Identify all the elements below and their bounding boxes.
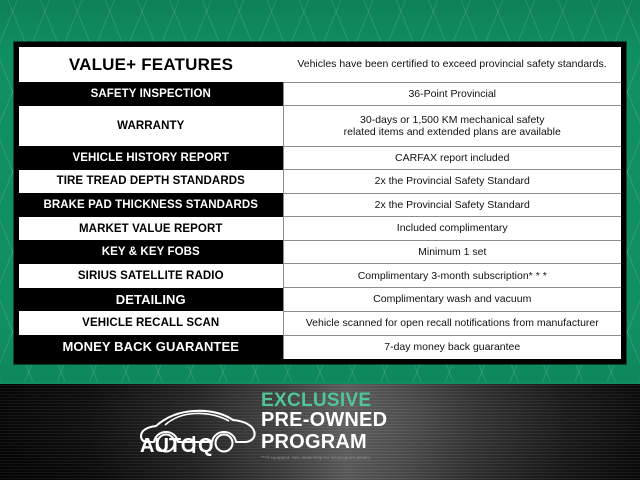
feature-value: CARFAX report included xyxy=(283,146,621,170)
feature-value: Complimentary wash and vacuum xyxy=(283,288,621,312)
table-header-row: VALUE+ FEATURES Vehicles have been certi… xyxy=(19,47,621,82)
program-fineprint: ***If equipped. See dealership for full … xyxy=(261,455,561,460)
promo-graphic: VALUE+ FEATURES Vehicles have been certi… xyxy=(0,0,640,480)
table-body: VALUE+ FEATURES Vehicles have been certi… xyxy=(19,47,621,359)
table-row: SIRIUS SATELLITE RADIO Complimentary 3-m… xyxy=(19,264,621,288)
table-row: BRAKE PAD THICKNESS STANDARDS 2x the Pro… xyxy=(19,193,621,217)
feature-label: VEHICLE RECALL SCAN xyxy=(19,311,283,335)
feature-value-line: 2x the Provincial Safety Standard xyxy=(290,175,616,187)
feature-value: 30-days or 1,500 KM mechanical safety re… xyxy=(283,106,621,146)
program-headline-block: EXCLUSIVE PRE-OWNED PROGRAM ***If equipp… xyxy=(261,391,561,460)
feature-value-line: related items and extended plans are ava… xyxy=(290,126,616,138)
table-row: WARRANTY 30-days or 1,500 KM mechanical … xyxy=(19,106,621,146)
feature-value: 36-Point Provincial xyxy=(283,82,621,106)
table-row: SAFETY INSPECTION 36-Point Provincial xyxy=(19,82,621,106)
headline-pre-owned: PRE-OWNED xyxy=(261,410,561,432)
feature-label: MONEY BACK GUARANTEE xyxy=(19,335,283,359)
autoiq-car-icon: AUTO Q xyxy=(132,400,260,458)
feature-label: SAFETY INSPECTION xyxy=(19,82,283,106)
headline-exclusive: EXCLUSIVE xyxy=(261,391,561,410)
feature-value-line: Minimum 1 set xyxy=(290,246,616,258)
feature-value-line: 7-day money back guarantee xyxy=(290,341,616,353)
feature-label: SIRIUS SATELLITE RADIO xyxy=(19,264,283,288)
table-row: TIRE TREAD DEPTH STANDARDS 2x the Provin… xyxy=(19,170,621,194)
feature-value: Complimentary 3-month subscription* * * xyxy=(283,264,621,288)
banner-green-rule xyxy=(0,382,640,384)
feature-label: WARRANTY xyxy=(19,106,283,146)
value-features-table: VALUE+ FEATURES Vehicles have been certi… xyxy=(19,47,621,359)
feature-value: 2x the Provincial Safety Standard xyxy=(283,193,621,217)
feature-value-line: Included complimentary xyxy=(290,222,616,234)
feature-label: KEY & KEY FOBS xyxy=(19,240,283,264)
table-row: MONEY BACK GUARANTEE 7-day money back gu… xyxy=(19,335,621,359)
autoiq-logo: AUTO Q xyxy=(132,400,260,458)
table-row: DETAILING Complimentary wash and vacuum xyxy=(19,288,621,312)
table-title: VALUE+ FEATURES xyxy=(19,47,283,82)
table-row: KEY & KEY FOBS Minimum 1 set xyxy=(19,240,621,264)
feature-value-line: Vehicle scanned for open recall notifica… xyxy=(290,317,616,329)
feature-value-line: 36-Point Provincial xyxy=(290,88,616,100)
logo-divider-bar xyxy=(193,436,196,453)
logo-wordmark-auto: AUTO xyxy=(140,435,196,457)
feature-value-line: CARFAX report included xyxy=(290,152,616,164)
feature-value-line: 30-days or 1,500 KM mechanical safety xyxy=(290,114,616,126)
feature-value: Vehicle scanned for open recall notifica… xyxy=(283,311,621,335)
feature-value-line: Complimentary 3-month subscription* * * xyxy=(290,270,616,282)
feature-value: Included complimentary xyxy=(283,217,621,241)
headline-program: PROGRAM xyxy=(261,432,561,454)
feature-value: 7-day money back guarantee xyxy=(283,335,621,359)
feature-value: Minimum 1 set xyxy=(283,240,621,264)
feature-label: VEHICLE HISTORY REPORT xyxy=(19,146,283,170)
feature-value-line: Complimentary wash and vacuum xyxy=(290,293,616,305)
feature-label: BRAKE PAD THICKNESS STANDARDS xyxy=(19,193,283,217)
table-header-note: Vehicles have been certified to exceed p… xyxy=(283,47,621,82)
feature-value: 2x the Provincial Safety Standard xyxy=(283,170,621,194)
table-row: MARKET VALUE REPORT Included complimenta… xyxy=(19,217,621,241)
value-features-card: VALUE+ FEATURES Vehicles have been certi… xyxy=(14,42,626,364)
table-row: VEHICLE RECALL SCAN Vehicle scanned for … xyxy=(19,311,621,335)
logo-wordmark-q: Q xyxy=(198,435,214,457)
feature-label: TIRE TREAD DEPTH STANDARDS xyxy=(19,170,283,194)
feature-label: DETAILING xyxy=(19,288,283,312)
table-row: VEHICLE HISTORY REPORT CARFAX report inc… xyxy=(19,146,621,170)
feature-label: MARKET VALUE REPORT xyxy=(19,217,283,241)
feature-value-line: 2x the Provincial Safety Standard xyxy=(290,199,616,211)
